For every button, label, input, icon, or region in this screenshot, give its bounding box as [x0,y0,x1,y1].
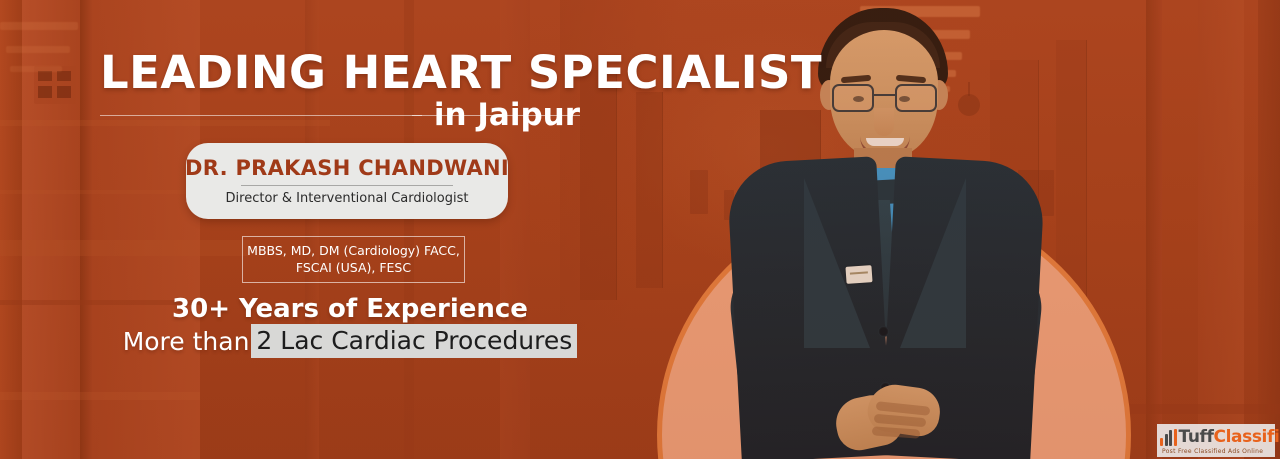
doctor-promo-banner: LEADING HEART SPECIALIST in Jaipur DR. P… [0,0,1280,459]
wall-panel [1258,0,1280,459]
doctor-name-card: DR. PRAKASH CHANDWANI Director & Interve… [186,143,508,219]
corridor-door [636,92,663,288]
procedures-row: More than 2 Lac Cardiac Procedures [0,324,700,358]
doctor-role: Director & Interventional Cardiologist [226,191,469,206]
ceiling-light [0,22,78,30]
ceiling-light [6,46,70,53]
procedures-prefix: More than [123,327,250,356]
wall-trim [0,392,200,400]
divider-left [100,115,422,116]
experience-text: 30+ Years of Experience [0,294,700,324]
bar-chart-icon [1160,429,1177,446]
ceiling-light [10,66,62,72]
lapel-badge [845,265,872,284]
doctor-qualifications: MBBS, MD, DM (Cardiology) FACC, FSCAI (U… [242,236,465,283]
wall-trim [1130,404,1280,414]
wall-panel [1146,0,1162,459]
logo-tagline: Post Free Classified Ads Online [1160,448,1275,455]
corridor-door [580,70,617,300]
wall-trim [0,240,250,256]
logo-name-part2: Classified [1214,427,1280,447]
logo-name-part1: Tuff [1179,427,1214,447]
page-title: LEADING HEART SPECIALIST [100,46,822,99]
doctor-name: DR. PRAKASH CHANDWANI [185,156,509,180]
name-card-divider [241,185,453,186]
tuffclassified-logo[interactable]: Tuff Classified Post Free Classified Ads… [1157,424,1275,457]
divider-right [412,115,580,116]
wall-panel [1198,0,1244,459]
procedures-highlight: 2 Lac Cardiac Procedures [251,324,577,358]
wall-panel [80,0,92,459]
